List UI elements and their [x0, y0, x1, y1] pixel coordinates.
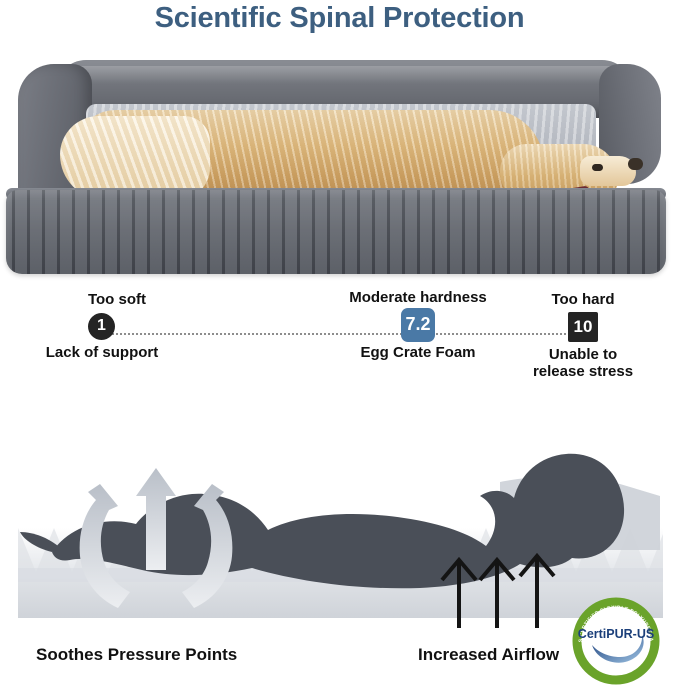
scale-stop-too-hard: Too hard 10 Unable to release stress	[508, 292, 658, 380]
scale-label-too-hard: Too hard	[508, 292, 658, 309]
badge-trademark: ®	[647, 627, 651, 634]
scale-marker-row-hard: 10	[508, 312, 658, 342]
scale-marker-7-2: 7.2	[401, 308, 435, 342]
scale-label-lack-of-support: Lack of support	[14, 344, 190, 361]
unable-line-2: release stress	[508, 363, 658, 380]
scale-marker-10: 10	[568, 312, 598, 342]
scale-label-egg-crate-foam: Egg Crate Foam	[330, 344, 506, 361]
scale-marker-row-moderate: 7.2	[330, 308, 506, 342]
unable-line-1: Unable to	[508, 346, 658, 363]
airflow-arrows	[442, 556, 554, 628]
product-photo	[0, 48, 679, 283]
dog-nose	[628, 158, 643, 170]
badge-center-text: CertiPUR-US	[578, 627, 654, 641]
bed-foam-base	[6, 190, 666, 274]
hardness-scale: Too soft 1 Lack of support Moderate hard…	[0, 292, 679, 392]
caption-soothes-pressure-points: Soothes Pressure Points	[36, 645, 237, 665]
scale-label-unable-to-release-stress: Unable to release stress	[508, 346, 658, 381]
scale-stop-moderate: Moderate hardness 7.2 Egg Crate Foam	[330, 290, 506, 361]
scale-marker-row-soft: 1	[88, 313, 190, 340]
caption-increased-airflow: Increased Airflow	[418, 645, 559, 665]
scale-label-moderate-hardness: Moderate hardness	[330, 290, 506, 307]
dog-eye	[592, 164, 603, 171]
scale-stop-too-soft: Too soft 1 Lack of support	[14, 292, 190, 361]
page-title: Scientific Spinal Protection	[0, 2, 679, 35]
scale-marker-1: 1	[88, 313, 115, 340]
scale-label-too-soft: Too soft	[44, 292, 190, 309]
certipur-us-badge: CONTAINS CERTIFIED FLEXIBLE POLYURETHANE…	[572, 597, 660, 685]
